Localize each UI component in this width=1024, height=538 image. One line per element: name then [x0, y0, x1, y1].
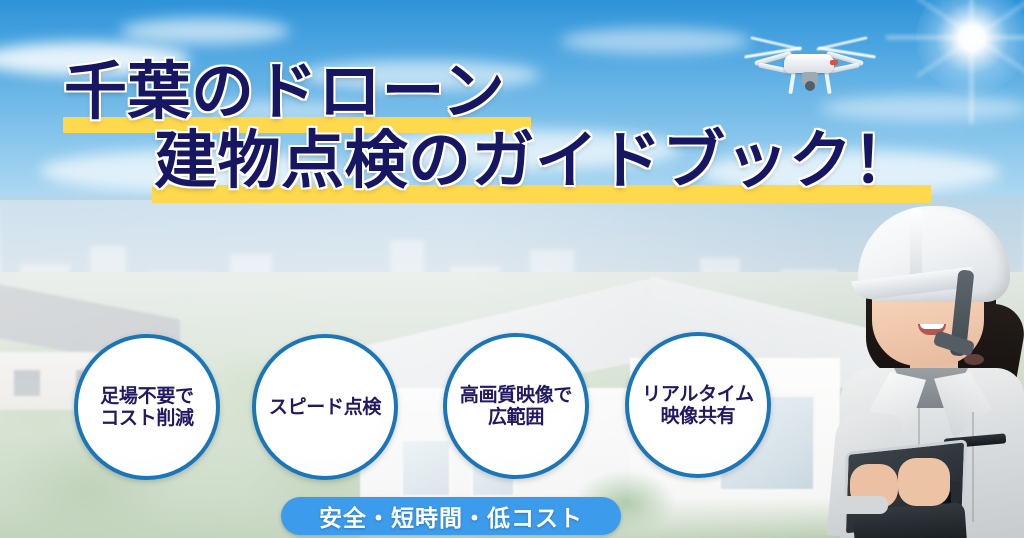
cloud — [560, 28, 750, 54]
feature-badge-1: 足場不要で コスト削減 — [74, 334, 220, 480]
feature-badge-1-label: 足場不要で コスト削減 — [100, 385, 194, 430]
title-line-2: 建物点検のガイドブック！ — [154, 129, 916, 192]
feature-badge-2-label: スピード点検 — [269, 396, 381, 418]
feature-badge-2: スピード点検 — [252, 334, 398, 480]
drone-icon — [744, 32, 874, 102]
inspector-photo — [806, 196, 1024, 538]
feature-badge-3: 高画質映像で 広範囲 — [443, 333, 589, 479]
tagline-pill-label: 安全・短時間・低コスト — [319, 499, 583, 533]
hero-banner: 千葉のドローン 建物点検のガイドブック！ 相場と点検当日の流れを紹介 足場不要で… — [0, 0, 1024, 538]
tagline-pill: 安全・短時間・低コスト — [281, 497, 621, 535]
feature-badge-3-label: 高画質映像で 広範囲 — [460, 384, 572, 429]
feature-badge-4-label: リアルタイム 映像共有 — [642, 383, 754, 428]
title-line-1: 千葉のドローン — [64, 60, 505, 123]
feature-badge-4: リアルタイム 映像共有 — [625, 332, 771, 478]
cloud — [120, 18, 290, 44]
